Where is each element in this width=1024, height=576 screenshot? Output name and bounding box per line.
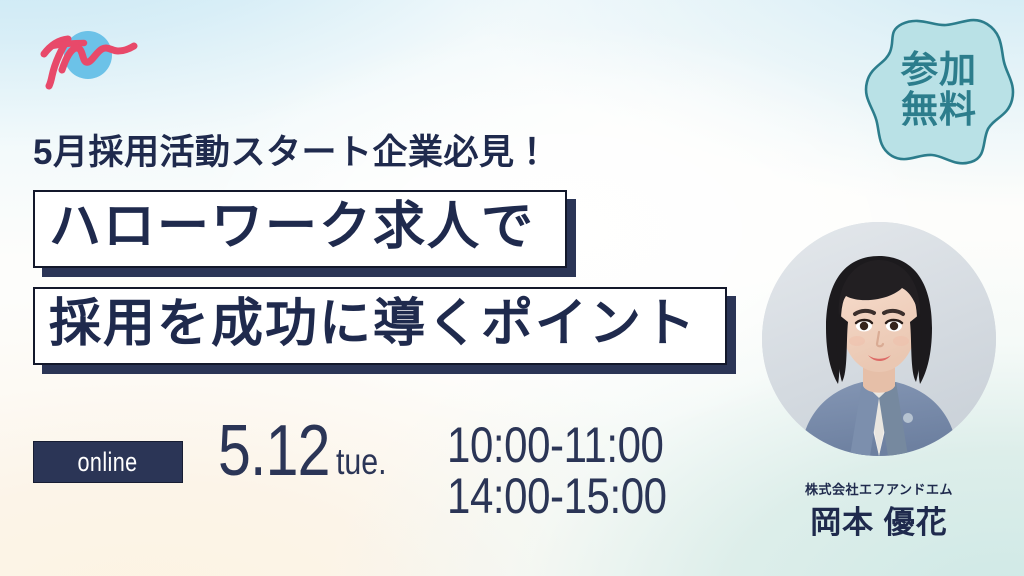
company-logo [28,18,150,90]
event-date-group: 5.12 tue. [218,418,398,484]
speaker-info: 株式会社エフアンドエム 岡本 優花 [762,482,996,540]
event-day-of-week: tue. [336,443,387,480]
free-participation-badge: 参加 無料 [861,12,1017,170]
badge-blob-shape [861,12,1017,170]
online-format-badge: online [33,441,183,483]
headline-box-line1: ハローワーク求人で [33,190,567,268]
event-date: 5.12 [218,418,330,484]
online-format-label: online [78,447,138,478]
headline-box-line2: 採用を成功に導くポイント [33,287,727,365]
event-time-slot-2: 14:00-15:00 [447,471,667,522]
event-times-group: 10:00-11:00 14:00-15:00 [447,420,708,522]
event-time-slot-1: 10:00-11:00 [447,420,667,471]
banner-canvas: 参加 無料 5月採用活動スタート企業必見！ ハローワーク求人で 採用を成功に導く… [0,0,1024,576]
kicker-text: 5月採用活動スタート企業必見！ [33,124,550,175]
speaker-company: 株式会社エフアンドエム [762,482,996,498]
headline-text-line1: ハローワーク求人で [49,201,535,253]
headline-text-line2: 採用を成功に導くポイント [49,298,697,350]
speaker-portrait [762,222,996,456]
speaker-name: 岡本 優花 [762,506,996,540]
